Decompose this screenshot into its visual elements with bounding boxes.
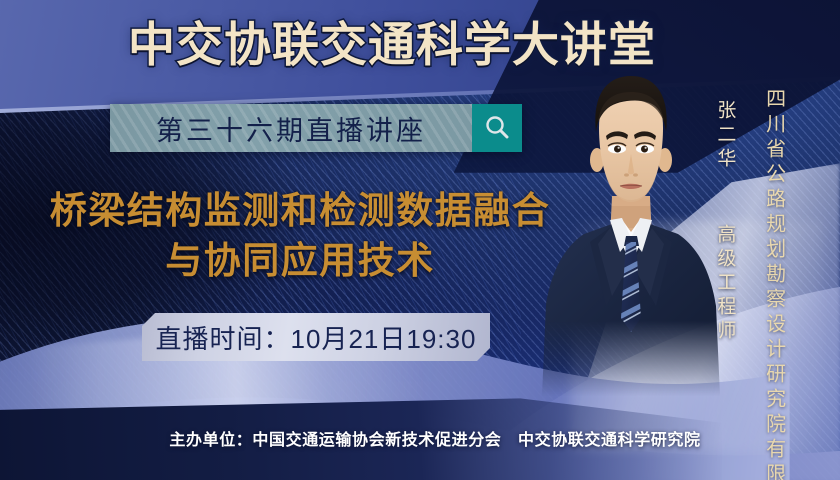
speaker-portrait [540,56,722,396]
broadcast-time-text: 直播时间：10月21日19:30 [156,319,477,356]
subtitle-banner: 第三十六期直播讲座 [110,104,522,152]
speaker-organization: 四川省公路规划勘察设计研究院有限公司 [760,88,786,480]
topic-title: 桥梁结构监测和检测数据融合 与协同应用技术 [40,186,560,285]
topic-title-line-2: 与协同应用技术 [40,236,560,286]
search-icon[interactable] [472,104,522,152]
subtitle-text: 第三十六期直播讲座 [156,109,426,148]
promo-poster: 四川省公路规划勘察设计研究院有限公司 张二华 高级工程师 中交协联交通科学大讲堂… [0,0,840,480]
organizer-footer: 主办单位：中国交通运输协会新技术促进分会 中交协联交通科学研究院 [0,426,840,450]
subtitle-banner-body: 第三十六期直播讲座 [110,104,472,152]
speaker-name: 张二华 高级工程师 [712,100,736,344]
broadcast-time-badge: 直播时间：10月21日19:30 [142,313,490,361]
page-title: 中交协联交通科学大讲堂 [128,16,656,73]
topic-title-line-1: 桥梁结构监测和检测数据融合 [40,186,560,236]
